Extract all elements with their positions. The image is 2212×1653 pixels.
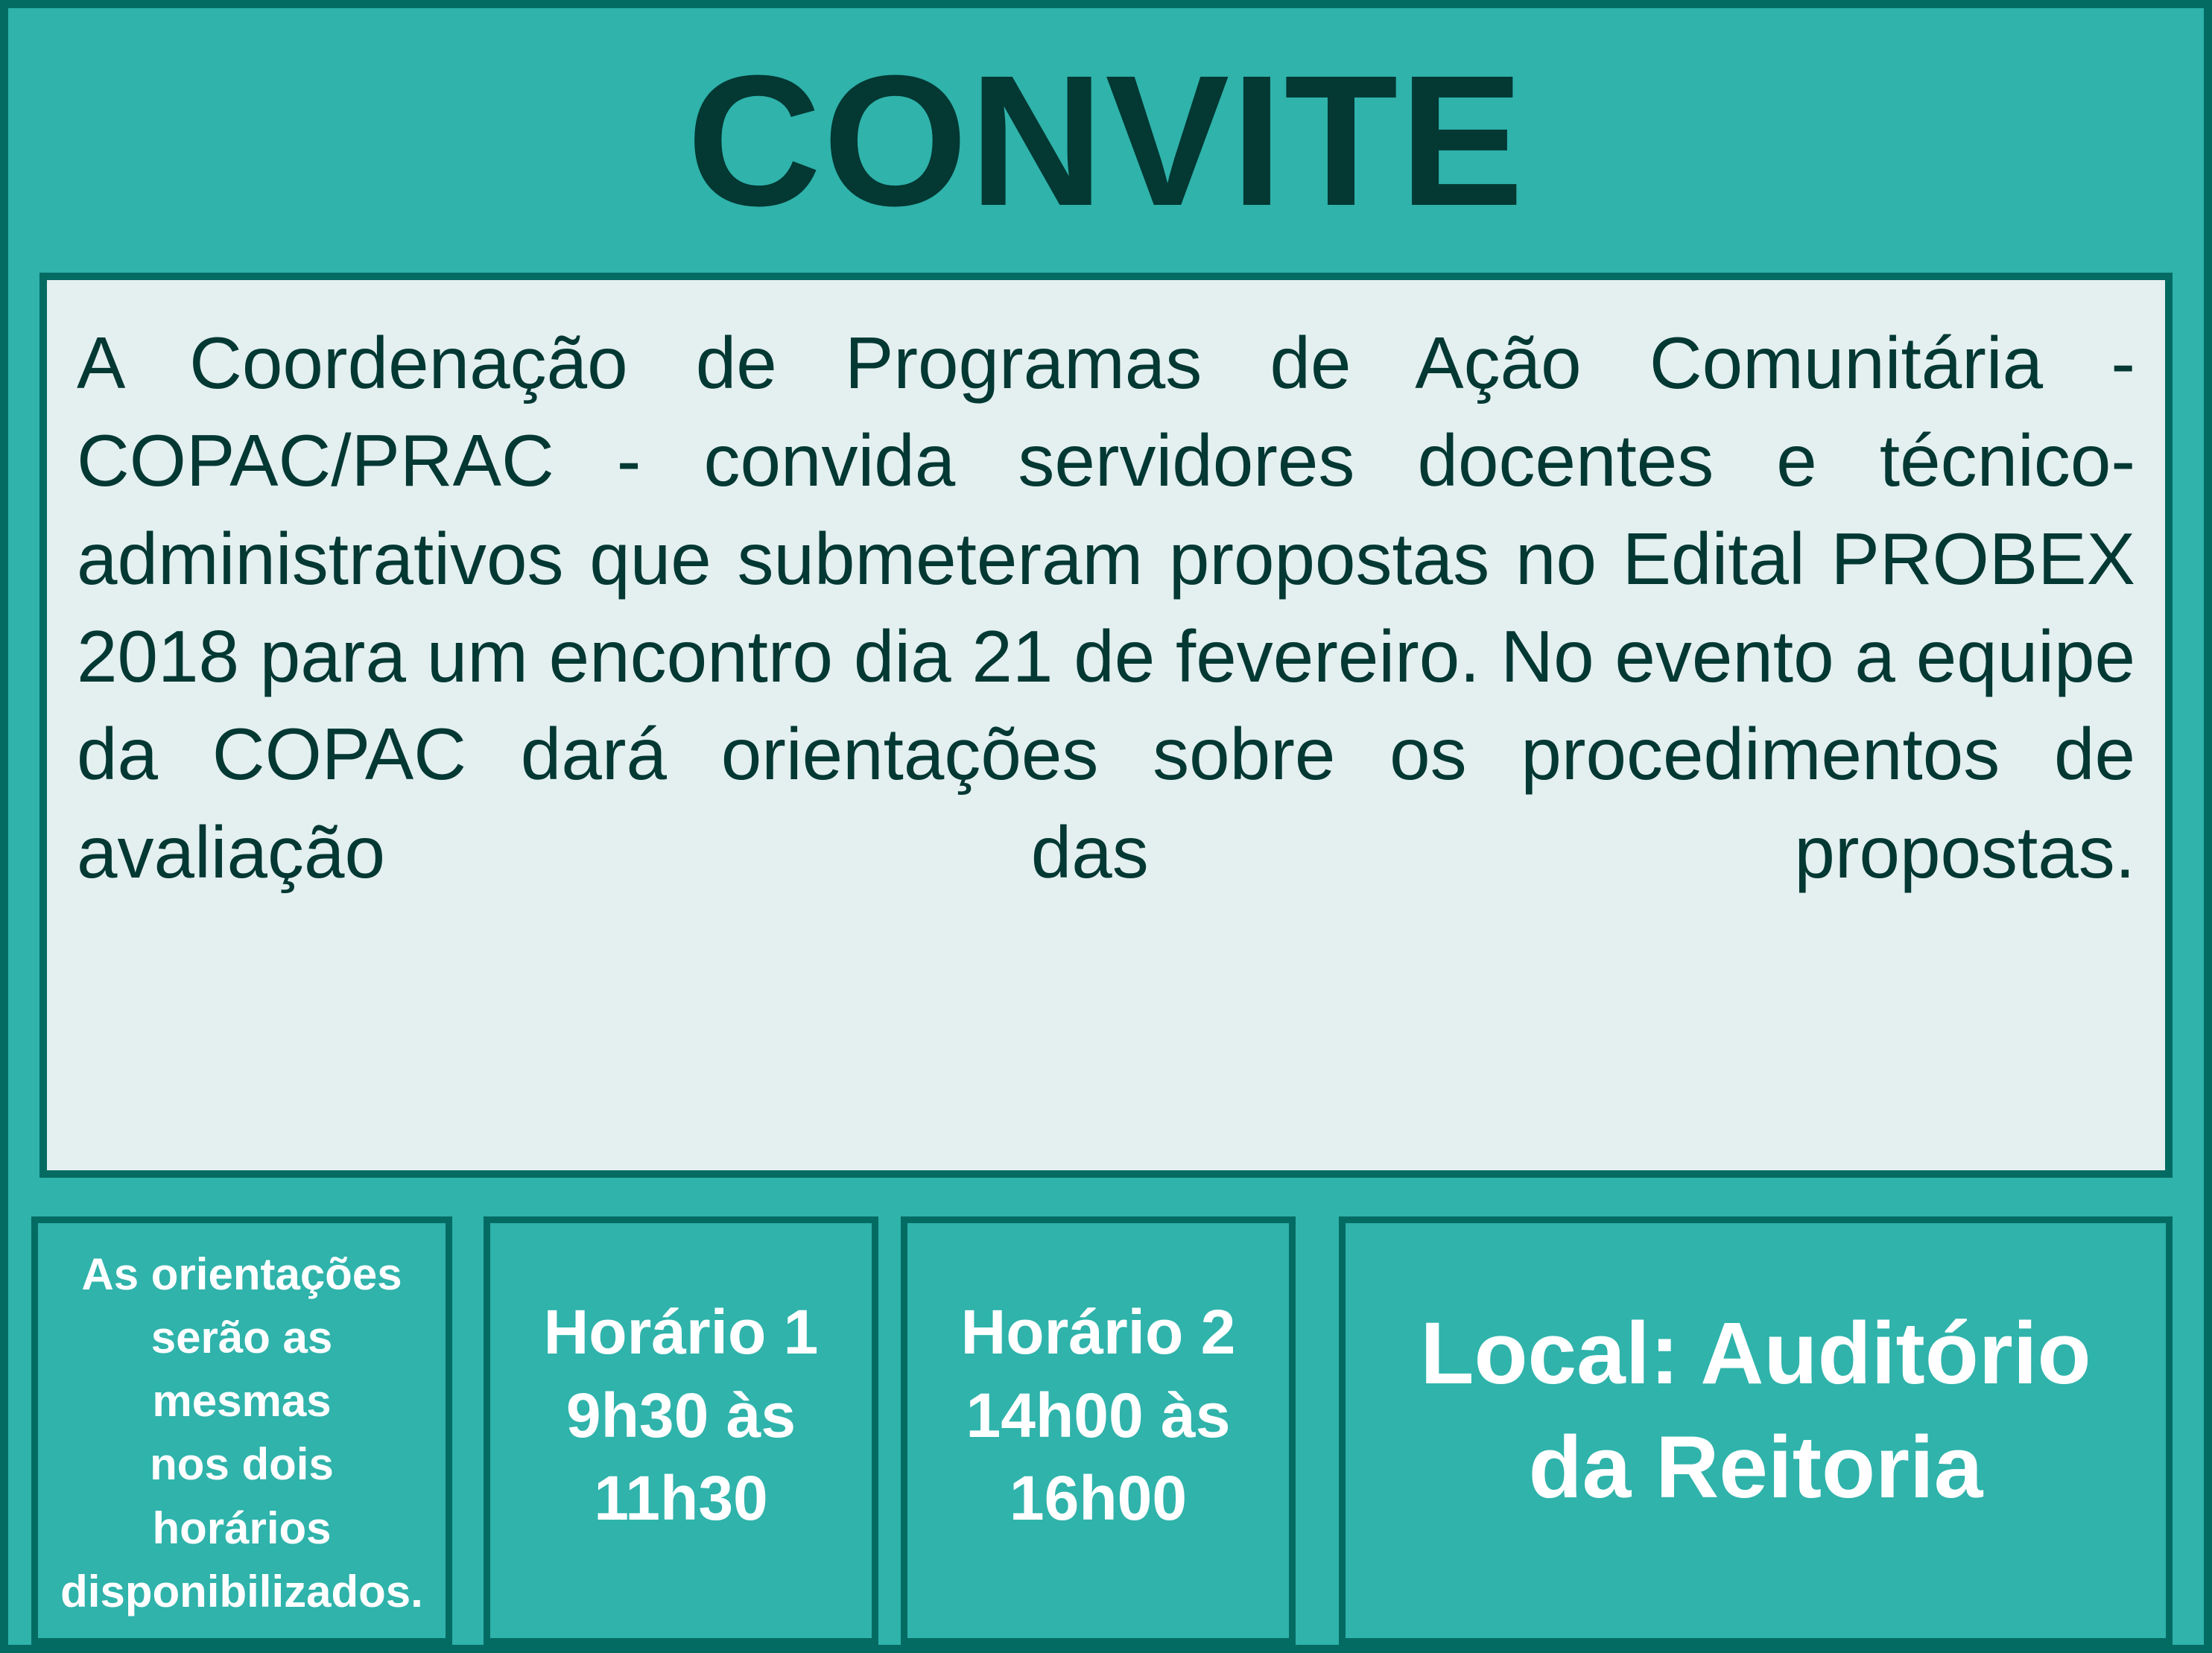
schedule-2-end: 16h00 — [1010, 1463, 1187, 1533]
schedule-box-1: Horário 1 9h30 às 11h30 — [484, 1216, 878, 1645]
schedule-1-start: 9h30 às — [566, 1380, 796, 1450]
note-line-3: nos dois horários — [150, 1439, 334, 1552]
schedule-2-start: 14h00 às — [966, 1380, 1231, 1450]
schedule-box-2-text: Horário 2 14h00 às 16h00 — [915, 1291, 1281, 1570]
title-area: CONVITE — [8, 8, 2204, 273]
invitation-poster: CONVITE A Coordenação de Programas de Aç… — [0, 0, 2212, 1653]
bottom-info-strip: As orientações serão as mesmas nos dois … — [31, 1216, 2173, 1645]
location-box: Local: Auditório da Reitoria — [1339, 1216, 2173, 1645]
schedule-box-1-text: Horário 1 9h30 às 11h30 — [498, 1291, 864, 1570]
note-box: As orientações serão as mesmas nos dois … — [31, 1216, 452, 1645]
location-line-2: da Reitoria — [1529, 1418, 1983, 1517]
note-line-1: As orientações — [81, 1249, 402, 1299]
schedule-box-2: Horário 2 14h00 às 16h00 — [901, 1216, 1296, 1645]
schedule-2-label: Horário 2 — [961, 1297, 1236, 1367]
location-line-1: Local: Auditório — [1420, 1304, 2091, 1403]
invitation-body-text: A Coordenação de Programas de Ação Comun… — [77, 314, 2135, 999]
note-line-2: serão as mesmas — [151, 1313, 333, 1426]
location-box-text: Local: Auditório da Reitoria — [1359, 1297, 2152, 1564]
note-line-4: disponibilizados. — [60, 1567, 423, 1616]
page-title: CONVITE — [687, 48, 1525, 234]
schedule-1-label: Horário 1 — [544, 1297, 819, 1367]
body-text-panel: A Coordenação de Programas de Ação Comun… — [39, 273, 2173, 1178]
note-box-text: As orientações serão as mesmas nos dois … — [50, 1238, 434, 1623]
schedule-1-end: 11h30 — [594, 1463, 768, 1533]
